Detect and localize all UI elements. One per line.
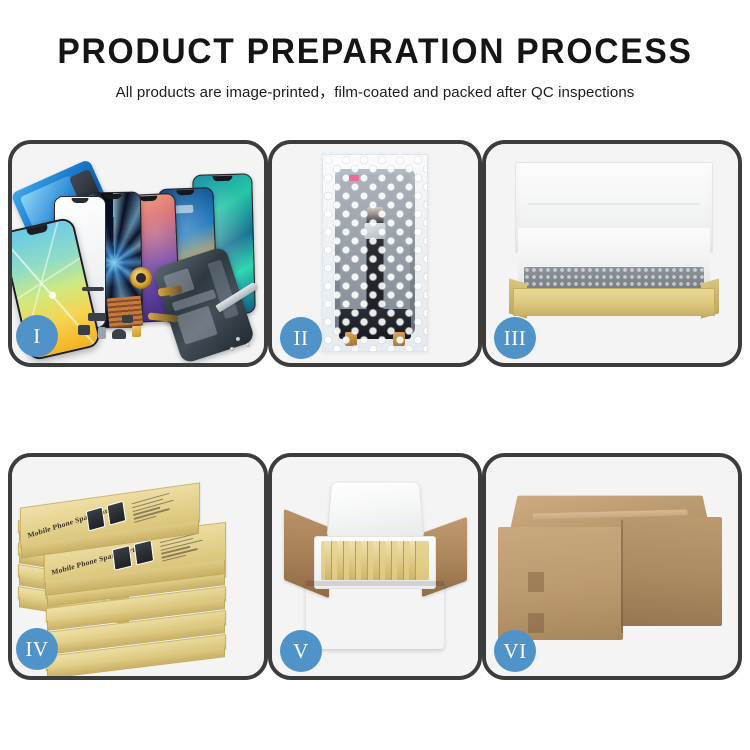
kraft-inner-box-icon <box>502 158 726 333</box>
step-badge-2: II <box>280 317 322 359</box>
vibration-motor-icon <box>130 267 152 289</box>
screw-icon <box>236 337 240 341</box>
carton-tab <box>528 613 544 633</box>
qc-sticker-icon <box>349 175 359 181</box>
foam-box-lid <box>326 482 424 539</box>
carton-edge-seam <box>621 520 623 633</box>
grid-row-gap <box>8 367 742 453</box>
camera-module-part <box>132 326 141 337</box>
screw-icon <box>246 343 250 347</box>
connector-part <box>78 325 90 335</box>
process-steps-grid: I II <box>8 140 742 680</box>
step-badge-5: V <box>280 630 322 672</box>
button-part <box>122 315 133 323</box>
sim-tray-part <box>98 327 106 339</box>
carton-tab <box>528 572 544 592</box>
step-badge-3: III <box>494 317 536 359</box>
step-panel-1[interactable]: I <box>8 140 268 367</box>
step-badge-4: IV <box>16 628 58 670</box>
carton-left-face <box>498 527 623 640</box>
page-title: PRODUCT PREPARATION PROCESS <box>15 34 735 71</box>
screw-icon <box>230 347 234 351</box>
sealed-carton-icon <box>498 479 722 650</box>
bubble-texture <box>323 155 427 351</box>
box-label-speclines <box>132 490 183 525</box>
connector-part <box>88 313 106 321</box>
step-panel-3[interactable]: III <box>482 140 742 367</box>
page-header: PRODUCT PREPARATION PROCESS All products… <box>0 0 750 102</box>
shipping-carton-open-icon <box>282 469 468 656</box>
earpiece-mesh-part <box>82 287 104 291</box>
box-label-screens <box>86 501 127 532</box>
carton-front-panel <box>306 581 444 648</box>
step-panel-4[interactable]: Mobile Phone Spare Parts Mobil <box>8 453 268 680</box>
step-badge-6: VI <box>494 630 536 672</box>
bubble-wrap-bag-icon <box>322 154 428 352</box>
packed-kraft-boxes <box>321 541 430 579</box>
carton-right-face <box>621 517 722 626</box>
speaker-part <box>112 329 126 339</box>
step-panel-2[interactable]: II <box>268 140 482 367</box>
copper-mesh-icon <box>107 296 143 329</box>
box-front-panel <box>513 288 715 316</box>
page-subtitle: All products are image-printed，film-coat… <box>4 80 747 102</box>
step-panel-5[interactable]: V <box>268 453 482 680</box>
step-badge-1: I <box>16 315 58 357</box>
step-panel-6[interactable]: VI <box>482 453 742 680</box>
